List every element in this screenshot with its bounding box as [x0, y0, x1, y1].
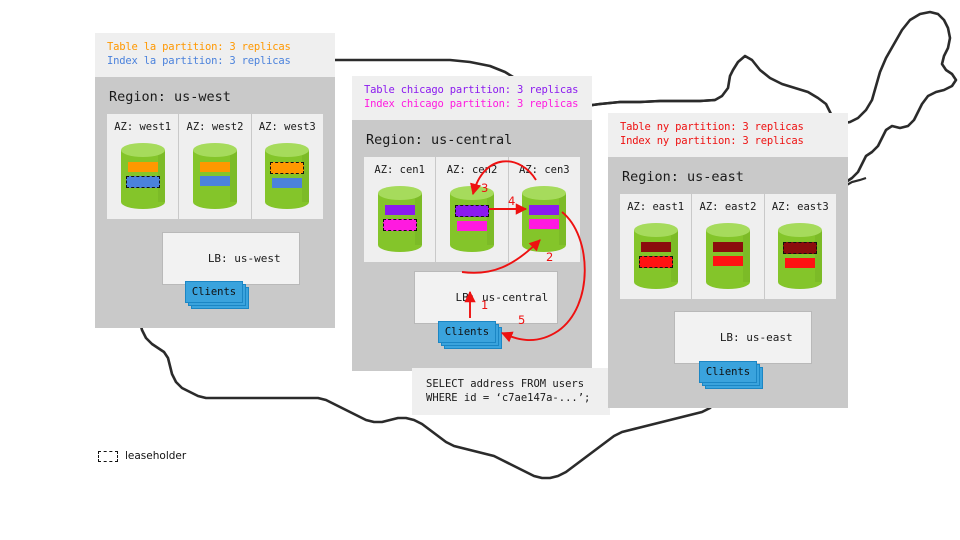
az-label-cen1: AZ: cen1 — [364, 164, 435, 176]
node-cylinder-cen1[interactable] — [378, 186, 422, 252]
az-label-east2: AZ: east2 — [692, 201, 763, 213]
az-label-west1: AZ: west1 — [107, 121, 178, 133]
az-cell-east2[interactable]: AZ: east2 — [692, 194, 764, 299]
replica-bars-cen3 — [522, 205, 566, 233]
banner-line-index: Index ny partition: 3 replicas — [620, 135, 836, 149]
region-title-us-central: Region: us-central — [352, 120, 592, 157]
az-strip-us-east: AZ: east1 AZ: east2 — [620, 194, 836, 299]
sql-line-1: SELECT address FROM users — [426, 377, 596, 391]
az-cell-east1[interactable]: AZ: east1 — [620, 194, 692, 299]
replica-bar-table-leaseholder — [270, 162, 304, 174]
replica-bar-index — [272, 178, 302, 188]
banner-line-index: Index chicago partition: 3 replicas — [364, 98, 580, 112]
az-label-cen3: AZ: cen3 — [509, 164, 580, 176]
replica-bar-table — [529, 205, 559, 215]
clients-sheet-front[interactable]: Clients — [699, 361, 757, 383]
clients-label-us-central: Clients — [445, 326, 489, 338]
az-label-west3: AZ: west3 — [252, 121, 323, 133]
banner-line-index: Index la partition: 3 replicas — [107, 55, 323, 69]
diagram-canvas: Table la partition: 3 replicas Index la … — [0, 0, 960, 540]
replica-bars-west2 — [193, 162, 237, 190]
flow-step-number-1: 1 — [481, 298, 488, 312]
clients-label-us-west: Clients — [192, 286, 236, 298]
region-title-us-west: Region: us-west — [95, 77, 335, 114]
banner-line-table: Table ny partition: 3 replicas — [620, 121, 836, 135]
node-cylinder-cen2[interactable] — [450, 186, 494, 252]
az-label-east3: AZ: east3 — [765, 201, 836, 213]
az-strip-us-west: AZ: west1 AZ: west2 — [107, 114, 323, 219]
replica-bar-index-leaseholder — [639, 256, 673, 268]
node-cylinder-east3[interactable] — [778, 223, 822, 289]
replica-bars-cen2 — [450, 205, 494, 235]
replica-bar-index-leaseholder — [383, 219, 417, 231]
clients-us-central[interactable]: Clients — [438, 321, 496, 343]
replica-bars-east1 — [634, 242, 678, 272]
node-cylinder-cen3[interactable] — [522, 186, 566, 252]
replica-bar-index — [529, 219, 559, 229]
replica-bar-table-leaseholder — [783, 242, 817, 254]
az-cell-cen2[interactable]: AZ: cen2 — [436, 157, 508, 262]
az-cell-cen1[interactable]: AZ: cen1 — [364, 157, 436, 262]
replica-bar-table — [200, 162, 230, 172]
node-cylinder-west2[interactable] — [193, 143, 237, 209]
replica-bar-table-leaseholder — [455, 205, 489, 217]
replica-bar-table — [385, 205, 415, 215]
flow-step-number-4: 4 — [508, 194, 515, 208]
replica-bar-index — [713, 256, 743, 266]
replica-bars-west3 — [265, 162, 309, 192]
flow-step-number-5: 5 — [518, 313, 525, 327]
clients-sheet-front[interactable]: Clients — [185, 281, 243, 303]
az-label-west2: AZ: west2 — [179, 121, 250, 133]
node-cylinder-east2[interactable] — [706, 223, 750, 289]
az-cell-west2[interactable]: AZ: west2 — [179, 114, 251, 219]
az-cell-cen3[interactable]: AZ: cen3 — [509, 157, 580, 262]
replica-bar-index — [200, 176, 230, 186]
lb-label-us-central: LB: us-central — [456, 291, 549, 304]
node-cylinder-west1[interactable] — [121, 143, 165, 209]
lb-label-us-east: LB: us-east — [720, 331, 793, 344]
region-title-us-east: Region: us-east — [608, 157, 848, 194]
node-cylinder-east1[interactable] — [634, 223, 678, 289]
replica-bars-cen1 — [378, 205, 422, 235]
replica-bar-index — [785, 258, 815, 268]
az-label-east1: AZ: east1 — [620, 201, 691, 213]
replica-bar-table — [641, 242, 671, 252]
load-balancer-us-east[interactable]: LB: us-east — [674, 311, 812, 364]
legend-label: leaseholder — [125, 450, 186, 462]
clients-sheet-front[interactable]: Clients — [438, 321, 496, 343]
replica-bars-east3 — [778, 242, 822, 272]
lb-label-us-west: LB: us-west — [208, 252, 281, 265]
clients-us-west[interactable]: Clients — [185, 281, 243, 303]
az-strip-us-central: AZ: cen1 AZ: cen2 — [364, 157, 580, 262]
sql-line-2: WHERE id = ‘c7ae147a-...’; — [426, 391, 596, 405]
partition-banner-us-west: Table la partition: 3 replicas Index la … — [95, 33, 335, 77]
legend-leaseholder: leaseholder — [98, 450, 186, 462]
node-cylinder-west3[interactable] — [265, 143, 309, 209]
clients-label-us-east: Clients — [706, 366, 750, 378]
replica-bars-west1 — [121, 162, 165, 192]
load-balancer-us-west[interactable]: LB: us-west — [162, 232, 300, 285]
partition-banner-us-east: Table ny partition: 3 replicas Index ny … — [608, 113, 848, 157]
banner-line-table: Table la partition: 3 replicas — [107, 41, 323, 55]
sql-query-box: SELECT address FROM users WHERE id = ‘c7… — [412, 368, 610, 415]
banner-line-table: Table chicago partition: 3 replicas — [364, 84, 580, 98]
leaseholder-swatch-icon — [98, 451, 118, 462]
az-cell-west1[interactable]: AZ: west1 — [107, 114, 179, 219]
flow-step-number-3: 3 — [481, 181, 488, 195]
replica-bar-index-leaseholder — [126, 176, 160, 188]
partition-banner-us-central: Table chicago partition: 3 replicas Inde… — [352, 76, 592, 120]
replica-bar-index — [457, 221, 487, 231]
az-label-cen2: AZ: cen2 — [436, 164, 507, 176]
flow-step-number-2: 2 — [546, 250, 553, 264]
az-cell-east3[interactable]: AZ: east3 — [765, 194, 836, 299]
replica-bar-table — [128, 162, 158, 172]
clients-us-east[interactable]: Clients — [699, 361, 757, 383]
replica-bar-table — [713, 242, 743, 252]
az-cell-west3[interactable]: AZ: west3 — [252, 114, 323, 219]
replica-bars-east2 — [706, 242, 750, 270]
